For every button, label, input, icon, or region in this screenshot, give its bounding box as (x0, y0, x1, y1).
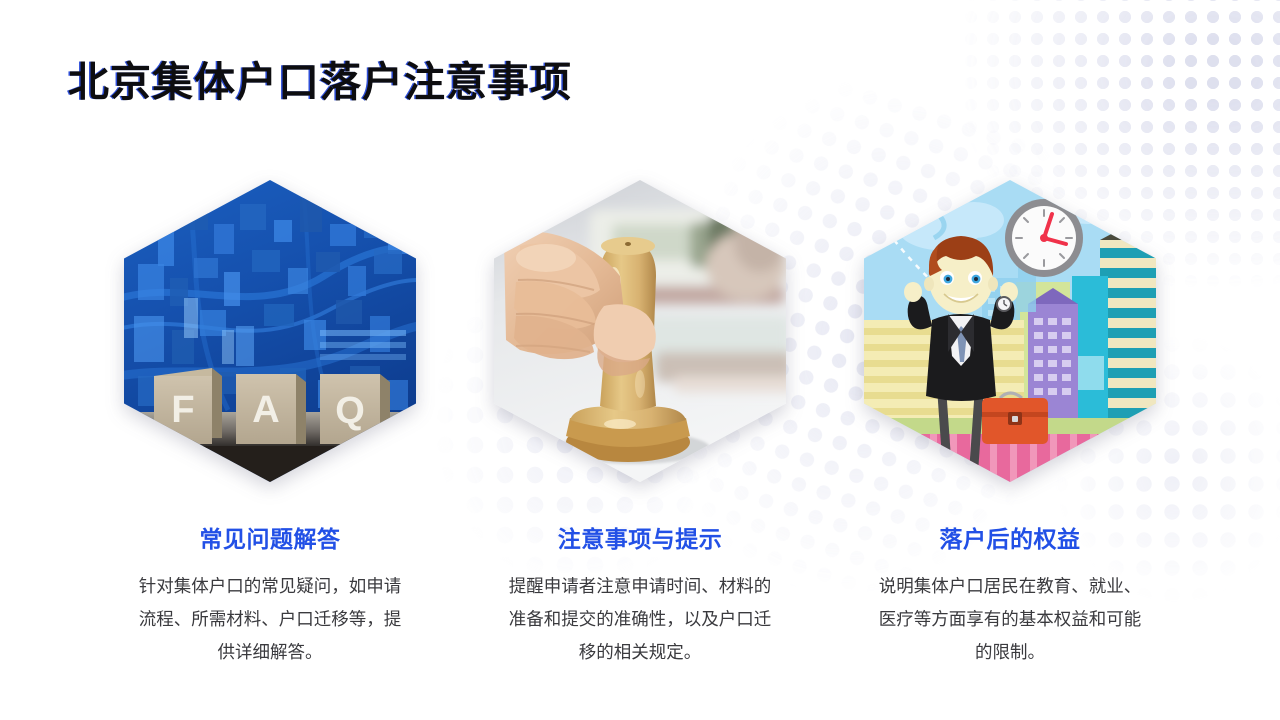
faq-blocks-city-image: F A Q (124, 180, 416, 482)
page-title: 北京集体户口落户注意事项 (68, 48, 572, 108)
card-row: F A Q 常见问题解答 针对集体户口的常见疑问，如申请流程、所需材料、户口迁移… (0, 180, 1280, 669)
svg-text:F: F (171, 389, 194, 431)
card-notice[interactable]: 注意事项与提示 提醒申请者注意申请时间、材料的准备和提交的准确性，以及户口迁移的… (494, 180, 786, 669)
hex-image-faq: F A Q (124, 180, 416, 482)
hand-stamp-image (494, 180, 786, 482)
card-benefits[interactable]: 落户后的权益 说明集体户口居民在教育、就业、医疗等方面享有的基本权益和可能的限制… (864, 180, 1156, 669)
card-heading-faq: 常见问题解答 (200, 520, 341, 554)
briefcase-icon (982, 393, 1048, 444)
card-heading-notice: 注意事项与提示 (558, 520, 723, 554)
card-faq[interactable]: F A Q 常见问题解答 针对集体户口的常见疑问，如申请流程、所需材料、户口迁移… (124, 180, 416, 669)
svg-text:Q: Q (335, 390, 365, 432)
businessman-city-illustration (864, 180, 1156, 482)
card-body-faq: 针对集体户口的常见疑问，如申请流程、所需材料、户口迁移等，提供详细解答。 (134, 570, 406, 669)
card-body-notice: 提醒申请者注意申请时间、材料的准备和提交的准确性，以及户口迁移的相关规定。 (504, 570, 776, 669)
hex-image-stamp (494, 180, 786, 482)
card-heading-benefits: 落户后的权益 (940, 520, 1081, 554)
hex-image-benefits (864, 180, 1156, 482)
card-body-benefits: 说明集体户口居民在教育、就业、医疗等方面享有的基本权益和可能的限制。 (874, 570, 1146, 669)
svg-text:A: A (252, 389, 279, 431)
wall-clock-icon (1005, 199, 1083, 277)
